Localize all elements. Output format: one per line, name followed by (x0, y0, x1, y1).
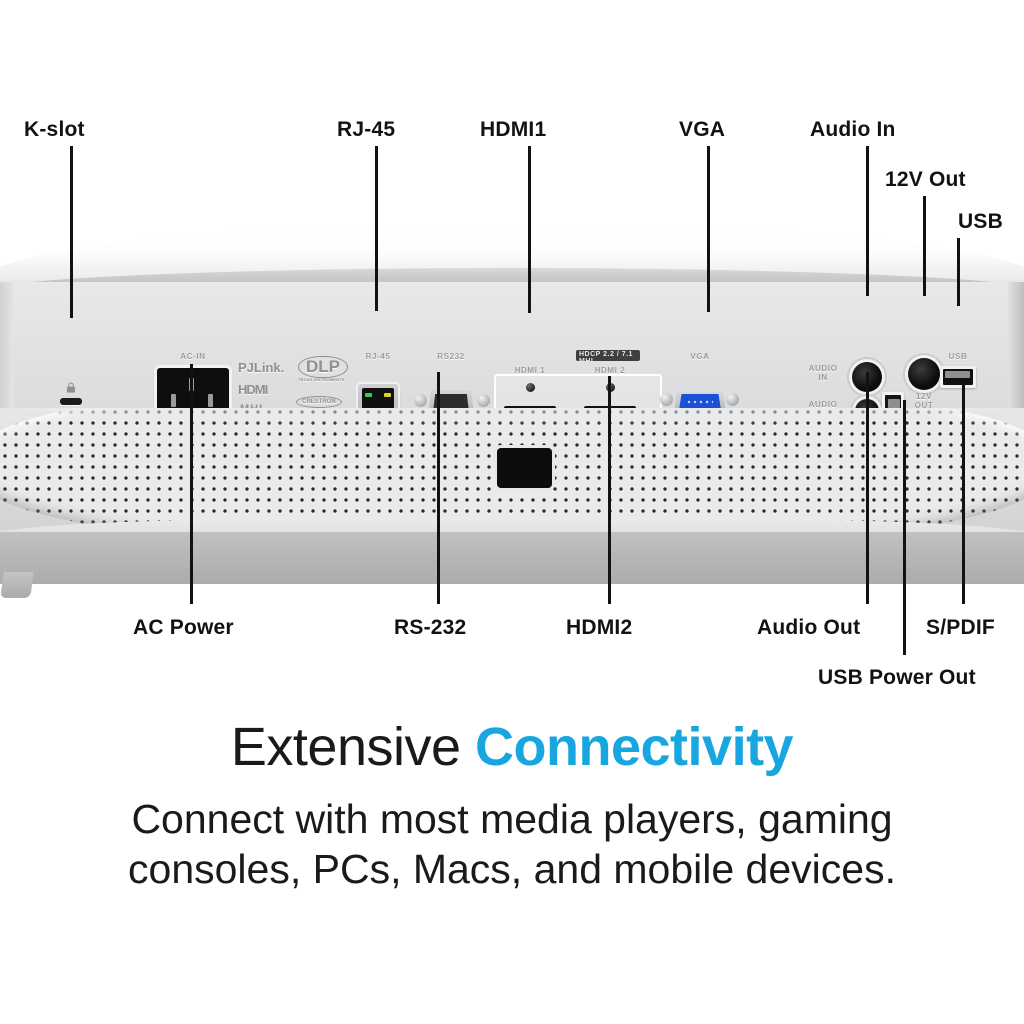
callout-leader-usb (957, 238, 960, 306)
callout-label-12v-out: 12V Out (885, 168, 966, 192)
callout-leader-rj-45 (375, 146, 378, 311)
speaker-grille (0, 408, 1024, 538)
callout-leader-hdmi1 (528, 146, 531, 313)
callout-label-vga: VGA (679, 118, 725, 142)
usb-type-a-port (940, 366, 976, 388)
callout-label-usb: USB (958, 210, 1003, 234)
callout-leader-ac-power (190, 364, 193, 604)
callout-label-hdmi2: HDMI2 (566, 616, 632, 640)
callout-label-ac-power: AC Power (133, 616, 234, 640)
subcopy-line-2: consoles, PCs, Macs, and mobile devices. (0, 844, 1024, 894)
product-feature-graphic: AC-IN PJLink. HDMI MHL 4K UHD DLP TEXAS … (0, 0, 1024, 1024)
callout-leader-hdmi2 (608, 376, 611, 604)
subcopy-line-1: Connect with most media players, gaming (0, 794, 1024, 844)
callout-leader-12v-out (923, 196, 926, 296)
callout-leader-vga (707, 146, 710, 312)
silk-rs232: RS232 (426, 352, 476, 361)
kensington-lock-icon (66, 382, 76, 393)
ir-receiver-window (497, 448, 552, 488)
callout-label-k-slot: K-slot (24, 118, 85, 142)
silk-usb: USB (940, 352, 976, 361)
silk-vga: VGA (676, 352, 724, 361)
vga-screw-left (660, 393, 673, 406)
projector-base-skirt (0, 532, 1024, 584)
callout-label-hdmi1: HDMI1 (480, 118, 546, 142)
callout-leader-k-slot (70, 146, 73, 318)
silk-ac-in: AC-IN (157, 352, 229, 361)
logo-hdmi: HDMI (238, 382, 267, 397)
callout-leader-rs-232 (437, 372, 440, 604)
silk-rj45: RJ-45 (354, 352, 402, 361)
callout-leader-audio-out (866, 372, 869, 604)
projector-rear-panel-image: AC-IN PJLink. HDMI MHL 4K UHD DLP TEXAS … (0, 222, 1024, 592)
logo-dlp: DLP (298, 356, 348, 378)
hdcp-mhl-badge-text: HDCP 2.2 / 7.1 MHL (579, 351, 640, 361)
headline: Extensive Connectivity (0, 716, 1024, 778)
callout-label-spdif: S/PDIF (926, 616, 995, 640)
vga-screw-right (726, 393, 739, 406)
callout-label-audio-in: Audio In (810, 118, 896, 142)
kensington-security-slot (60, 398, 82, 405)
12v-trigger-out-jack (908, 358, 940, 390)
callout-label-rs-232: RS-232 (394, 616, 466, 640)
callout-label-rj-45: RJ-45 (337, 118, 395, 142)
projector-foot (0, 572, 34, 598)
callout-label-usb-power-out: USB Power Out (818, 666, 976, 690)
callout-leader-usb-power-out (903, 400, 906, 655)
hdmi1-screw (526, 383, 535, 392)
headline-part-1: Extensive (231, 717, 475, 777)
silk-audio-in: AUDIOIN (802, 364, 844, 382)
headline-accent: Connectivity (475, 717, 793, 777)
callout-label-audio-out: Audio Out (757, 616, 860, 640)
logo-pjlink: PJLink. (238, 360, 284, 375)
callout-leader-audio-in (866, 146, 869, 296)
callout-leader-spdif (962, 382, 965, 604)
hdcp-mhl-badge: HDCP 2.2 / 7.1 MHL (576, 350, 640, 361)
subcopy: Connect with most media players, gaming … (0, 794, 1024, 894)
logo-dlp-subtitle: TEXAS INSTRUMENTS (298, 377, 345, 382)
logo-crestron: CRESTRON (296, 396, 342, 408)
rs232-screw-left (414, 394, 427, 407)
rs232-screw-right (477, 394, 490, 407)
